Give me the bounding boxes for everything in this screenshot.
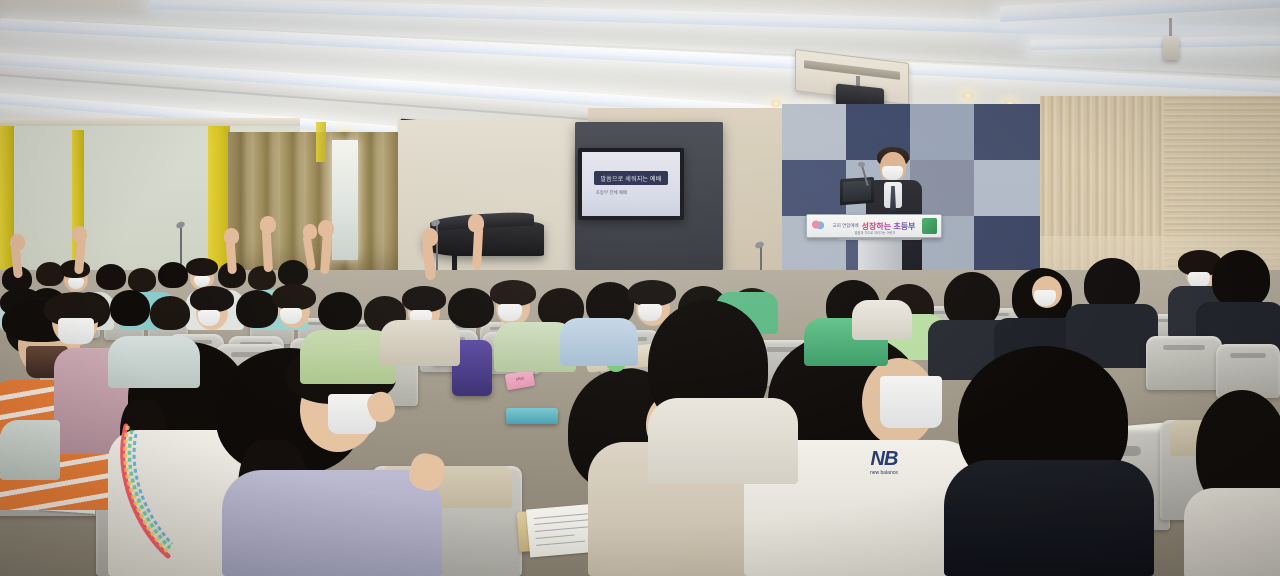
downlight — [962, 92, 974, 99]
banner-subtext: 말씀과 기도로 자라가는 어린이 — [833, 230, 917, 235]
raised-hand — [468, 214, 484, 232]
pencil-case[interactable] — [506, 408, 558, 424]
auditorium-photo: 말씀으로 세워지는 예배 초등부 전체 예배 교회 연합예배 성장하는 초등부 … — [0, 0, 1280, 576]
person-head — [110, 290, 150, 326]
raised-hand — [303, 224, 317, 239]
downlight — [770, 100, 782, 107]
person-torso-blue — [560, 318, 638, 366]
raised-hand — [260, 216, 276, 233]
wall-cornice — [0, 118, 300, 126]
person-head — [96, 264, 126, 290]
seat[interactable] — [1146, 336, 1222, 390]
slide-title: 말씀으로 세워지는 예배 — [594, 171, 668, 185]
yellow-pillar — [316, 122, 326, 162]
new-balance-wordmark: new balance — [850, 470, 918, 476]
acoustic-panel — [974, 104, 1040, 160]
display-surface: 말씀으로 세워지는 예배 초등부 전체 예배 — [582, 152, 680, 216]
slide-subtitle: 초등부 전체 예배 — [596, 190, 655, 196]
person-shirt-white — [648, 398, 798, 484]
banner-children-illustration — [811, 219, 825, 233]
person-head — [448, 288, 494, 328]
acoustic-panel — [782, 104, 846, 160]
rainbow-mask-chain — [106, 420, 236, 570]
person-head — [1212, 250, 1270, 308]
person-head — [278, 260, 308, 286]
raised-hand — [224, 228, 239, 244]
person-shirt-white — [1184, 488, 1280, 576]
face-mask — [498, 304, 522, 321]
person-shirt-lavender — [222, 470, 442, 576]
person-hair — [186, 258, 218, 276]
person-torso-white — [852, 300, 912, 340]
person-head — [158, 262, 188, 288]
spotlight-rod — [1169, 18, 1172, 38]
raised-hand — [72, 226, 87, 242]
banner-kicker-text: 교회 연합예배 — [833, 223, 859, 229]
person-torso-grey — [108, 336, 200, 388]
face-mask — [638, 304, 662, 321]
podium-banner: 교회 연합예배 성장하는 초등부 말씀과 기도로 자라가는 어린이 — [806, 214, 942, 238]
person-hair — [490, 280, 536, 306]
face-mask — [880, 376, 942, 428]
raised-hand — [318, 220, 334, 237]
person-hair — [190, 286, 234, 312]
banner-globe-illustration — [922, 218, 937, 234]
person-shirt-dark — [944, 460, 1154, 576]
acoustic-panel — [910, 104, 974, 160]
window-gap — [332, 140, 358, 260]
person-torso-grey — [0, 420, 60, 480]
raised-hand — [10, 234, 25, 250]
new-balance-logo: NB — [856, 446, 912, 472]
acoustic-panel — [974, 160, 1040, 216]
person-head — [318, 292, 362, 330]
hanging-spotlight — [1163, 36, 1179, 60]
person-hair — [628, 280, 676, 306]
presentation-display[interactable]: 말씀으로 세워지는 예배 초등부 전체 예배 — [578, 148, 684, 220]
person-head — [128, 268, 156, 292]
person-hair — [402, 286, 446, 312]
acoustic-panel — [974, 216, 1040, 272]
podium-microphone — [858, 162, 865, 167]
acoustic-panel — [782, 160, 846, 216]
person-hair — [272, 284, 316, 310]
person-head — [150, 296, 190, 330]
podium-laptop[interactable] — [840, 177, 874, 205]
raised-hand — [422, 228, 438, 246]
face-mask — [58, 318, 94, 344]
person-torso-cream — [380, 320, 460, 366]
